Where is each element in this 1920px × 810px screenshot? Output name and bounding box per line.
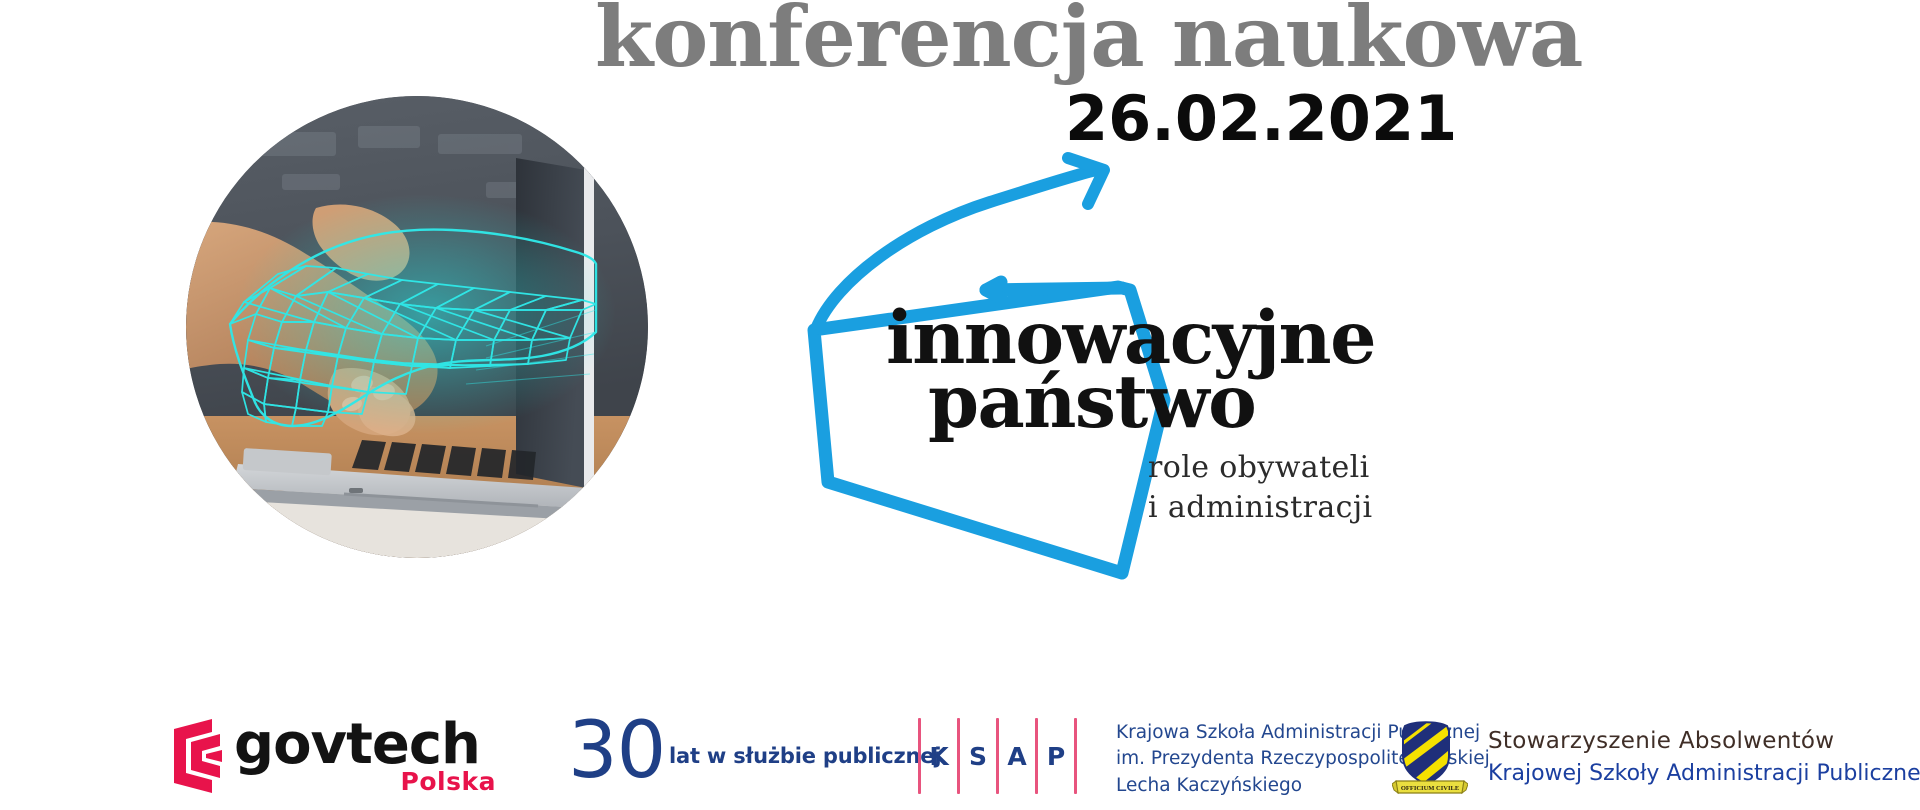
ksap-bar-4	[1074, 718, 1077, 794]
sponsor-logo-ksap[interactable]: K S A P Krajowa Szkoła Administracji Pub…	[918, 716, 1358, 800]
event-logo-line2: państwo	[928, 366, 1255, 439]
event-logo: innowacyjne państwo role obywateli i adm…	[800, 130, 1460, 590]
ksap-letter-a: A	[999, 718, 1035, 794]
assoc-name-line2: Krajowej Szkoły Administracji Publicznej	[1488, 763, 1920, 785]
thirty-number: 30	[568, 712, 665, 790]
govtech-polska-subwordmark: Polska	[401, 769, 496, 794]
sponsor-logo-stowarzyszenie-absolwentow[interactable]: OFFICIUM CIVILE Stowarzyszenie Absolwent…	[1392, 718, 1822, 798]
ksap-letter-k: K	[921, 718, 957, 794]
page-title: konferencja naukowa	[595, 0, 1795, 80]
event-logo-subtitle-line1: role obywateli	[1148, 448, 1373, 488]
govtech-wordmark: govtech	[234, 717, 480, 773]
sponsor-logo-govtech-polska[interactable]: govtech Polska	[172, 715, 502, 799]
assoc-name-line1: Stowarzyszenie Absolwentów	[1488, 730, 1834, 753]
event-logo-subtitle-line2: i administracji	[1148, 488, 1373, 528]
handshake-illustration	[186, 96, 648, 558]
ksap-acronym-mark: K S A P	[918, 718, 1077, 794]
sponsor-logo-30-lat[interactable]: 30 lat w służbie publicznej	[568, 716, 898, 796]
govtech-bracket-mark-icon	[172, 719, 230, 793]
crest-motto: OFFICIUM CIVILE	[1401, 785, 1459, 792]
ksap-letter-s: S	[960, 718, 996, 794]
ksap-letter-p: P	[1038, 718, 1074, 794]
ksap-alumni-shield-crest-icon: OFFICIUM CIVILE	[1392, 718, 1468, 796]
thirty-tagline: lat w służbie publicznej	[669, 746, 941, 767]
poster-canvas: konferencja naukowa 26.02.2021	[0, 0, 1920, 810]
event-logo-subtitle: role obywateli i administracji	[1148, 448, 1373, 527]
hero-photo	[186, 96, 648, 558]
